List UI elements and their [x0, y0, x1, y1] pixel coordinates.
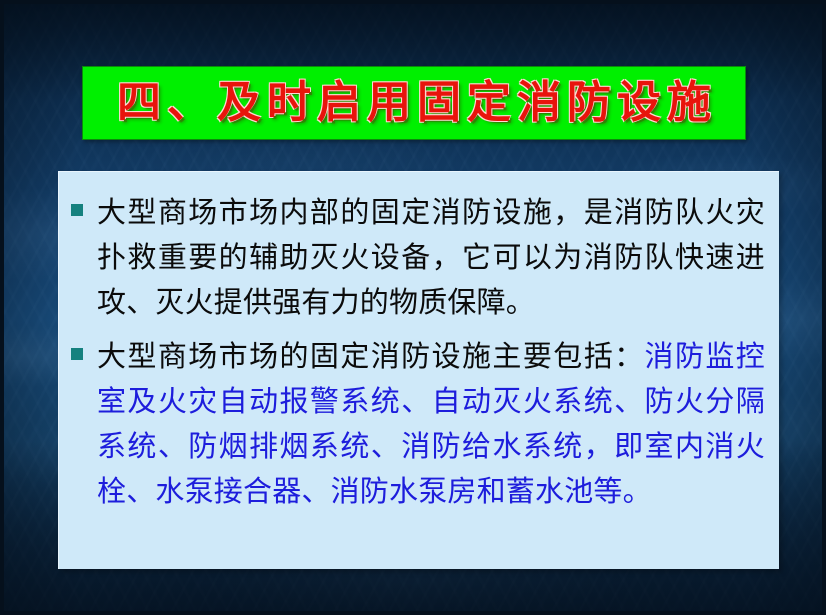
- paragraph-2-segment-1: 大型商场市场的固定消防设施主要包括：: [97, 339, 645, 373]
- bullet-paragraph-2: 大型商场市场的固定消防设施主要包括：消防监控室及火灾自动报警系统、自动灭火系统、…: [69, 334, 765, 514]
- bullet-paragraph-1: 大型商场市场内部的固定消防设施，是消防队火灾扑救重要的辅助灭火设备，它可以为消防…: [69, 190, 765, 325]
- paragraph-2-text: 大型商场市场的固定消防设施主要包括：消防监控室及火灾自动报警系统、自动灭火系统、…: [97, 334, 765, 514]
- title-banner: 四、及时启用固定消防设施: [82, 66, 746, 140]
- square-bullet-icon: [71, 348, 83, 360]
- paragraph-1-segment-1: 大型商场市场内部的固定消防设施，是消防队火灾扑救重要的辅助灭火设备，它可以为消防…: [97, 195, 765, 319]
- square-bullet-icon: [71, 204, 83, 216]
- slide-title: 四、及时启用固定消防设施: [111, 81, 717, 125]
- paragraph-1-text: 大型商场市场内部的固定消防设施，是消防队火灾扑救重要的辅助灭火设备，它可以为消防…: [97, 190, 765, 325]
- content-panel: 大型商场市场内部的固定消防设施，是消防队火灾扑救重要的辅助灭火设备，它可以为消防…: [58, 171, 779, 569]
- presentation-slide: 四、及时启用固定消防设施 大型商场市场内部的固定消防设施，是消防队火灾扑救重要的…: [0, 0, 826, 615]
